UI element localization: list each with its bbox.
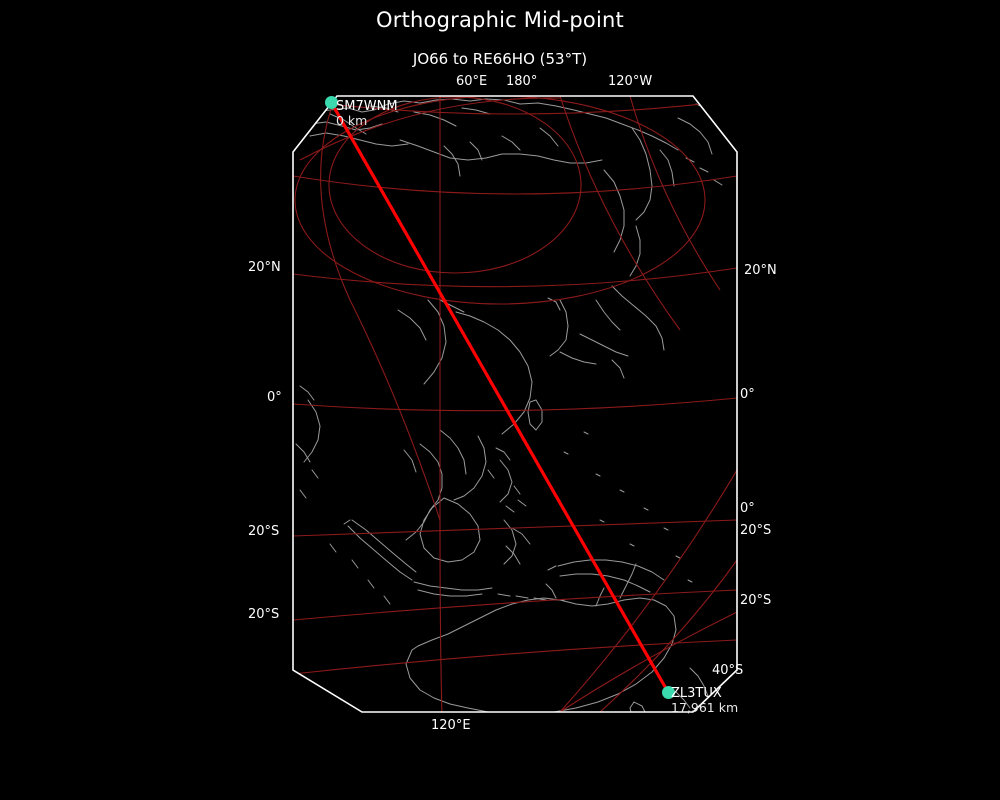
axis-label-left-20n: 20°N — [248, 260, 281, 275]
axis-label-right-20s-a: 20°S — [740, 523, 771, 538]
map-figure: Orthographic Mid-point JO66 to RE66HO (5… — [0, 0, 1000, 800]
axis-label-top-120w: 120°W — [608, 74, 652, 89]
axis-label-left-20s-a: 20°S — [248, 524, 279, 539]
axis-label-left-20s-b: 20°S — [248, 607, 279, 622]
axis-label-right-40s: 40°S — [712, 663, 743, 678]
station-destination-callsign: ZL3TUX — [671, 686, 722, 701]
axis-label-right-0-b: 0° — [740, 501, 755, 516]
axis-label-right-20s-b: 20°S — [740, 593, 771, 608]
axis-label-bottom-120e: 120°E — [431, 718, 471, 733]
station-origin-callsign: SM7WNM — [336, 99, 398, 114]
orthographic-map — [0, 0, 1000, 800]
axis-label-right-20n: 20°N — [744, 263, 777, 278]
station-origin-distance: 0 km — [336, 113, 367, 128]
axis-label-left-0: 0° — [267, 390, 282, 405]
axis-label-top-60e: 60°E — [456, 74, 487, 89]
axis-label-right-0-a: 0° — [740, 387, 755, 402]
station-destination-distance: 17,961 km — [671, 700, 738, 715]
axis-label-top-180: 180° — [506, 74, 537, 89]
